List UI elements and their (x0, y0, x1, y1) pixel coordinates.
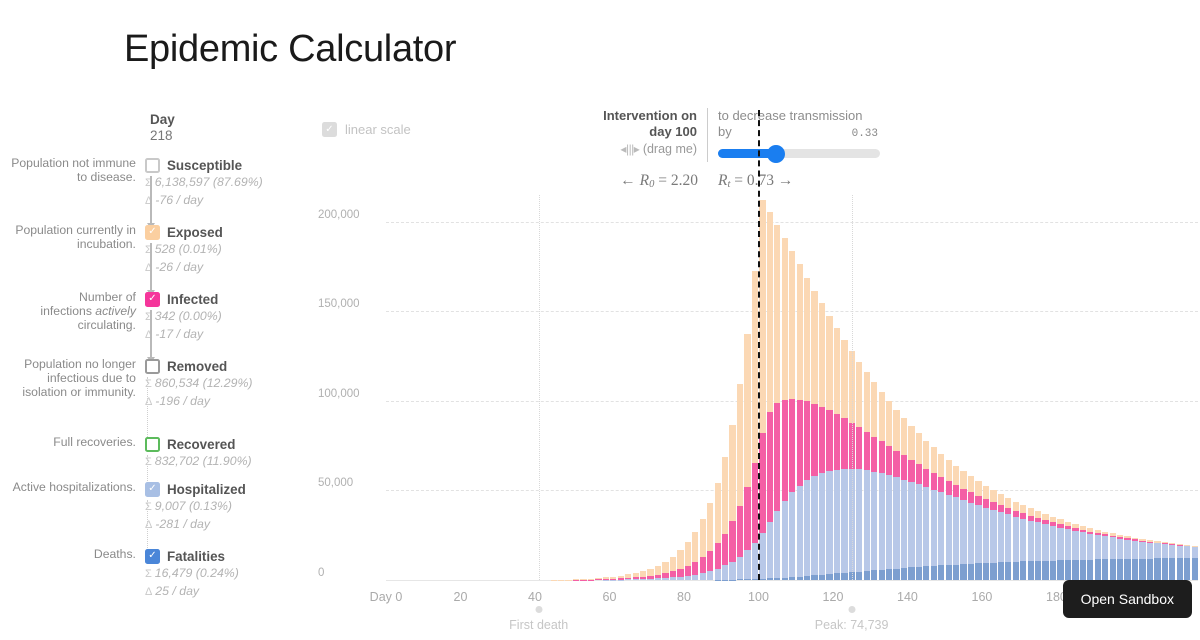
table-row (774, 225, 780, 580)
marker-handle[interactable] (535, 606, 542, 613)
checkbox-removed-icon[interactable] (145, 359, 160, 374)
rt-subscript: t (727, 179, 730, 190)
bar-segment-infected (968, 492, 974, 502)
legend-delta: Δ-17 / day (145, 326, 310, 344)
bar-segment-infected (938, 477, 944, 492)
bar-segment-hospitalized (1005, 514, 1011, 562)
table-row (819, 303, 825, 580)
drag-handle-icon[interactable]: ◂|||▸ (620, 142, 639, 156)
bar-segment-fatalities (916, 567, 922, 580)
bar-segment-exposed (893, 410, 899, 451)
x-axis-tick-label: 20 (454, 590, 468, 604)
bar-segment-infected (946, 481, 952, 495)
bar-segment-hospitalized (1042, 524, 1048, 560)
linear-scale-toggle[interactable]: ✓ linear scale (322, 122, 411, 137)
bar-segment-hospitalized (1154, 543, 1160, 558)
plot-inner (386, 195, 1198, 580)
bar-segment-fatalities (1035, 561, 1041, 580)
table-row (916, 433, 922, 580)
y-axis-tick-label: 100,000 (318, 388, 380, 400)
bar-segment-hospitalized (722, 565, 728, 579)
x-axis-tick-label: 40 (528, 590, 542, 604)
bar-segment-fatalities (968, 564, 974, 580)
bar-segment-hospitalized (960, 500, 966, 564)
table-row (797, 264, 803, 580)
checkbox-hospitalized-icon[interactable]: ✓ (145, 482, 160, 497)
bar-segment-fatalities (1065, 560, 1071, 580)
bar-segment-infected (916, 464, 922, 484)
bar-segment-hospitalized (1028, 521, 1034, 562)
bar-segment-exposed (856, 362, 862, 428)
y-axis-tick-label: 0 (318, 567, 380, 579)
legend-label: Fatalities (167, 549, 225, 564)
bar-segment-hospitalized (826, 471, 832, 574)
intervention-title-line1: Intervention on (598, 108, 697, 124)
bar-segment-exposed (879, 392, 885, 442)
table-row (767, 212, 773, 580)
table-row (804, 278, 810, 580)
bar-segment-fatalities (1057, 560, 1063, 580)
table-row (782, 238, 788, 580)
y-axis-tick-label: 200,000 (318, 209, 380, 221)
bar-segment-infected (856, 427, 862, 469)
bar-segment-exposed (677, 550, 683, 569)
table-row (640, 571, 646, 580)
bar-segment-infected (871, 437, 877, 472)
bar-segment-fatalities (1192, 558, 1198, 580)
bar-segment-exposed (968, 476, 974, 492)
bar-segment-exposed (901, 418, 907, 455)
bar-segment-hospitalized (1184, 546, 1190, 558)
bar-segment-hospitalized (789, 492, 795, 577)
bar-segment-hospitalized (782, 501, 788, 578)
bar-segment-exposed (908, 426, 914, 460)
bar-segment-exposed (797, 264, 803, 399)
bar-segment-fatalities (1124, 559, 1130, 580)
bar-segment-exposed (700, 519, 706, 557)
table-row (692, 532, 698, 580)
bar-segment-fatalities (1095, 559, 1101, 580)
bar-segment-infected (990, 502, 996, 510)
bar-segment-fatalities (1162, 558, 1168, 580)
table-row (1169, 543, 1175, 580)
legend-delta: Δ-196 / day (145, 393, 310, 411)
bar-segment-hospitalized (1102, 536, 1108, 559)
bar-segment-fatalities (871, 570, 877, 580)
linear-scale-checkbox-icon[interactable]: ✓ (322, 122, 337, 137)
table-row (1028, 508, 1034, 580)
bar-segment-hospitalized (1095, 535, 1101, 559)
bar-segment-hospitalized (1020, 519, 1026, 562)
bar-segment-exposed (744, 334, 750, 487)
legend-label: Infected (167, 292, 218, 307)
marker-line (852, 195, 853, 580)
bar-segment-hospitalized (737, 557, 743, 580)
intervention-drag-handle[interactable]: ◂|||▸ (drag me) (598, 140, 697, 158)
table-row (953, 466, 959, 580)
x-axis-tick-label: 160 (972, 590, 993, 604)
transmission-text-line1: to decrease transmission (718, 108, 898, 124)
table-row (662, 562, 668, 580)
bar-segment-fatalities (908, 567, 914, 580)
table-row (1072, 524, 1078, 580)
bar-segment-exposed (864, 372, 870, 432)
checkbox-recovered-icon[interactable] (145, 437, 160, 452)
bar-segment-exposed (789, 251, 795, 399)
bar-segment-fatalities (1072, 560, 1078, 580)
table-row (677, 550, 683, 580)
table-row (1057, 519, 1063, 580)
bar-segment-hospitalized (931, 490, 937, 566)
bar-segment-hospitalized (834, 470, 840, 574)
table-row (983, 486, 989, 580)
bar-segment-fatalities (1139, 559, 1145, 580)
bar-segment-infected (834, 414, 840, 469)
open-sandbox-button[interactable]: Open Sandbox (1063, 580, 1192, 618)
legend-label: Recovered (167, 437, 235, 452)
table-row (960, 471, 966, 580)
legend-total: Σ860,534 (12.29%) (145, 375, 310, 393)
bar-segment-exposed (1020, 505, 1026, 513)
x-axis-tick-label: 100 (748, 590, 769, 604)
table-row (1139, 539, 1145, 580)
bar-segment-exposed (804, 278, 810, 402)
table-row (908, 426, 914, 580)
bar-segment-fatalities (1110, 559, 1116, 580)
bar-segment-hospitalized (1139, 542, 1145, 559)
table-row (1042, 514, 1048, 580)
bar-segment-infected (841, 418, 847, 469)
legend-description: Active hospitalizations. (0, 480, 145, 494)
table-row (670, 557, 676, 580)
legend-total: Σ6,138,597 (87.69%) (145, 174, 310, 192)
bar-segment-exposed (692, 532, 698, 562)
bar-segment-exposed (826, 316, 832, 410)
bar-segment-exposed (916, 433, 922, 464)
intervention-line[interactable] (758, 110, 760, 580)
bar-segment-hospitalized (707, 571, 713, 580)
marker-handle[interactable] (848, 606, 855, 613)
bar-segment-hospitalized (715, 569, 721, 580)
bar-segment-hospitalized (804, 480, 810, 576)
r0-subscript: 0 (649, 179, 654, 190)
transmission-slider[interactable]: 0.33 (718, 142, 880, 164)
table-row (826, 316, 832, 580)
table-row (834, 328, 840, 580)
bar-segment-infected (923, 469, 929, 487)
bar-segment-exposed (1035, 511, 1041, 518)
bar-segment-exposed (811, 291, 817, 404)
table-row (879, 392, 885, 580)
bar-segment-infected (864, 432, 870, 470)
legend-total: Σ16,479 (0.24%) (145, 565, 310, 583)
bar-segment-fatalities (1087, 560, 1093, 580)
table-row (998, 494, 1004, 580)
table-row (1035, 511, 1041, 580)
checkbox-fatalities-icon[interactable]: ✓ (145, 549, 160, 564)
bar-segment-exposed (782, 238, 788, 400)
table-row (968, 476, 974, 580)
bar-segment-hospitalized (1072, 531, 1078, 560)
bar-segment-fatalities (1117, 559, 1123, 580)
bar-segment-hospitalized (938, 492, 944, 565)
bar-segment-fatalities (923, 566, 929, 580)
bar-segment-infected (767, 412, 773, 522)
bar-segment-fatalities (960, 564, 966, 580)
bar-segment-fatalities (1042, 561, 1048, 580)
legend-item-fatalities: Deaths.✓FatalitiesΣ16,479 (0.24%)Δ25 / d… (0, 547, 310, 601)
table-row (1147, 540, 1153, 580)
bar-segment-fatalities (1028, 561, 1034, 580)
bar-segment-exposed (871, 382, 877, 436)
legend-description: Population currently in incubation. (0, 223, 145, 251)
checkbox-exposed-icon[interactable]: ✓ (145, 225, 160, 240)
bar-segment-fatalities (901, 568, 907, 580)
bar-segment-hospitalized (1132, 541, 1138, 559)
bar-segment-infected (908, 460, 914, 482)
bar-segment-hospitalized (819, 473, 825, 575)
bar-segment-fatalities (983, 563, 989, 580)
bar-segment-hospitalized (1192, 547, 1198, 558)
legend-item-susceptible: Population not immune to disease.Suscept… (0, 156, 310, 210)
rt-readout: Rt = 0.73 → (718, 172, 793, 190)
legend-description: Number ofinfections activelycirculating. (0, 290, 145, 333)
slider-value-label: 0.33 (852, 128, 878, 140)
bar-segment-hospitalized (990, 510, 996, 563)
bar-segment-hospitalized (975, 505, 981, 563)
bar-segment-exposed (938, 454, 944, 477)
table-row (811, 291, 817, 580)
x-axis-tick-label: 80 (677, 590, 691, 604)
table-row (1132, 538, 1138, 580)
page-title: Epidemic Calculator (124, 28, 456, 71)
bar-segment-fatalities (1147, 559, 1153, 580)
table-row (975, 481, 981, 580)
table-row (923, 441, 929, 580)
bar-segment-infected (804, 401, 810, 480)
drag-handle-label: (drag me) (643, 142, 697, 156)
bar-segment-hospitalized (1162, 544, 1168, 558)
table-row (886, 401, 892, 580)
bar-segment-infected (826, 410, 832, 471)
bar-segment-hospitalized (1057, 528, 1063, 561)
bar-segment-fatalities (864, 571, 870, 580)
table-row (1102, 532, 1108, 580)
flow-arrow-icon (143, 176, 159, 229)
bar-segment-infected (879, 441, 885, 473)
table-row (1013, 502, 1019, 580)
legend-description: Full recoveries. (0, 435, 145, 449)
bar-segment-hospitalized (1147, 543, 1153, 559)
bar-segment-fatalities (1005, 562, 1011, 580)
legend-description: Deaths. (0, 547, 145, 561)
bar-segment-infected (953, 485, 959, 497)
legend-label: Removed (167, 359, 227, 374)
bar-segment-exposed (685, 542, 691, 566)
bar-segment-exposed (841, 340, 847, 419)
bar-segment-exposed (1013, 502, 1019, 511)
bar-segment-exposed (886, 401, 892, 446)
bar-segment-hospitalized (864, 470, 870, 571)
legend-item-hospitalized: Active hospitalizations.✓HospitalizedΣ9,… (0, 480, 310, 534)
table-row (1110, 533, 1116, 580)
bar-segment-hospitalized (744, 550, 750, 579)
bar-segment-fatalities (938, 565, 944, 580)
bar-segment-hospitalized (998, 512, 1004, 562)
legend-delta: Δ-76 / day (145, 192, 310, 210)
bar-segment-infected (998, 505, 1004, 512)
bar-segment-infected (886, 446, 892, 475)
bar-segment-fatalities (1013, 562, 1019, 580)
bar-segment-exposed (946, 460, 952, 481)
table-row (1177, 544, 1183, 580)
linear-scale-label: linear scale (345, 122, 411, 137)
bar-segment-exposed (960, 471, 966, 489)
table-row (729, 425, 735, 580)
table-row (1117, 535, 1123, 580)
bar-segment-fatalities (975, 563, 981, 580)
bar-segment-infected (960, 489, 966, 500)
checkbox-susceptible-icon[interactable] (145, 158, 160, 173)
bar-segment-hospitalized (1050, 526, 1056, 560)
bar-segment-exposed (819, 303, 825, 406)
checkbox-infected-icon[interactable]: ✓ (145, 292, 160, 307)
bar-segment-exposed (931, 447, 937, 473)
bar-segment-exposed (983, 486, 989, 499)
x-axis-tick-label: 120 (823, 590, 844, 604)
legend-description: Population no longer infectious due to i… (0, 357, 145, 400)
table-row (946, 460, 952, 580)
legend-label: Hospitalized (167, 482, 246, 497)
bar-segment-infected (983, 499, 989, 508)
bar-segment-hospitalized (983, 508, 989, 564)
bar-segment-exposed (975, 481, 981, 496)
bar-segment-fatalities (841, 573, 847, 580)
legend-total: Σ528 (0.01%) (145, 241, 310, 259)
slider-thumb[interactable] (767, 145, 785, 163)
table-row (1065, 522, 1071, 580)
bar-segment-exposed (707, 503, 713, 551)
bar-segment-hospitalized (953, 497, 959, 564)
table-row (841, 340, 847, 580)
bar-segment-exposed (715, 483, 721, 544)
bar-segment-hospitalized (901, 480, 907, 568)
y-axis-tick-label: 150,000 (318, 298, 380, 310)
bar-segment-hospitalized (1035, 522, 1041, 560)
bar-segment-exposed (953, 466, 959, 485)
legend-item-recovered: Full recoveries.RecoveredΣ832,702 (11.90… (0, 435, 310, 471)
day-label: Day (150, 112, 175, 127)
bar-segment-exposed (767, 212, 773, 412)
bar-segment-fatalities (893, 569, 899, 581)
bar-segment-infected (700, 557, 706, 573)
legend-total: Σ9,007 (0.13%) (145, 498, 310, 516)
x-axis-tick-label: Day 0 (370, 590, 403, 604)
bar-segment-hospitalized (908, 482, 914, 567)
table-row (938, 454, 944, 580)
table-row (737, 384, 743, 580)
bar-segment-exposed (662, 562, 668, 574)
bar-segment-exposed (647, 569, 653, 576)
y-axis-tick-label: 50,000 (318, 477, 380, 489)
bar-segment-fatalities (931, 566, 937, 580)
bar-segment-exposed (923, 441, 929, 469)
bar-segment-fatalities (946, 565, 952, 580)
bar-segment-infected (722, 534, 728, 566)
bar-segment-exposed (729, 425, 735, 522)
day-readout: Day 218 (150, 112, 175, 144)
bar-segment-fatalities (886, 569, 892, 580)
table-row (1124, 536, 1130, 580)
bar-segment-hospitalized (1117, 539, 1123, 559)
bar-segment-fatalities (1050, 561, 1056, 581)
bar-segment-infected (707, 551, 713, 571)
bar-segment-hospitalized (729, 562, 735, 580)
intervention-day-control[interactable]: Intervention on day 100 ◂|||▸ (drag me) (598, 108, 708, 162)
table-row (655, 566, 661, 580)
legend-delta: Δ-26 / day (145, 259, 310, 277)
table-row (715, 483, 721, 580)
r0-symbol: R (640, 172, 649, 189)
bar-segment-hospitalized (1065, 529, 1071, 560)
bar-segment-hospitalized (1110, 537, 1116, 559)
table-row (1162, 542, 1168, 580)
table-row (744, 334, 750, 580)
bar-segment-fatalities (1080, 560, 1086, 580)
bar-segment-fatalities (1184, 558, 1190, 580)
bar-segment-exposed (990, 490, 996, 502)
intervention-title-line2: day 100 (598, 124, 697, 140)
stacked-bars (386, 195, 1198, 580)
bar-segment-hospitalized (1169, 545, 1175, 558)
table-row (1005, 498, 1011, 580)
bar-segment-fatalities (998, 562, 1004, 580)
bar-segment-hospitalized (774, 511, 780, 579)
r0-arrow-icon: ← (620, 172, 636, 189)
bar-segment-exposed (655, 566, 661, 575)
bar-segment-hospitalized (1013, 517, 1019, 562)
legend-item-removed: Population no longer infectious due to i… (0, 357, 310, 411)
bar-segment-hospitalized (1124, 540, 1130, 559)
table-row (931, 447, 937, 580)
day-value: 218 (150, 127, 175, 144)
table-row (1020, 505, 1026, 580)
bar-segment-exposed (752, 271, 758, 462)
table-row (1184, 545, 1190, 580)
x-axis-tick-label: 60 (603, 590, 617, 604)
bar-segment-exposed (998, 494, 1004, 505)
bar-segment-infected (774, 403, 780, 510)
table-row (685, 542, 691, 580)
bar-segment-infected (811, 404, 817, 476)
table-row (1050, 517, 1056, 580)
bar-segment-hospitalized (841, 469, 847, 573)
r0-equals: = (658, 172, 667, 189)
bar-segment-hospitalized (811, 476, 817, 575)
table-row (1095, 530, 1101, 580)
bar-segment-hospitalized (968, 503, 974, 564)
legend-label: Exposed (167, 225, 223, 240)
legend-total: Σ832,702 (11.90%) (145, 453, 310, 471)
bar-segment-fatalities (1020, 561, 1026, 580)
bar-segment-fatalities (990, 563, 996, 580)
bar-segment-exposed (722, 457, 728, 534)
bar-segment-hospitalized (893, 477, 899, 568)
table-row (789, 251, 795, 580)
flow-arrow-icon (143, 310, 159, 363)
table-row (990, 490, 996, 580)
table-row (901, 418, 907, 580)
